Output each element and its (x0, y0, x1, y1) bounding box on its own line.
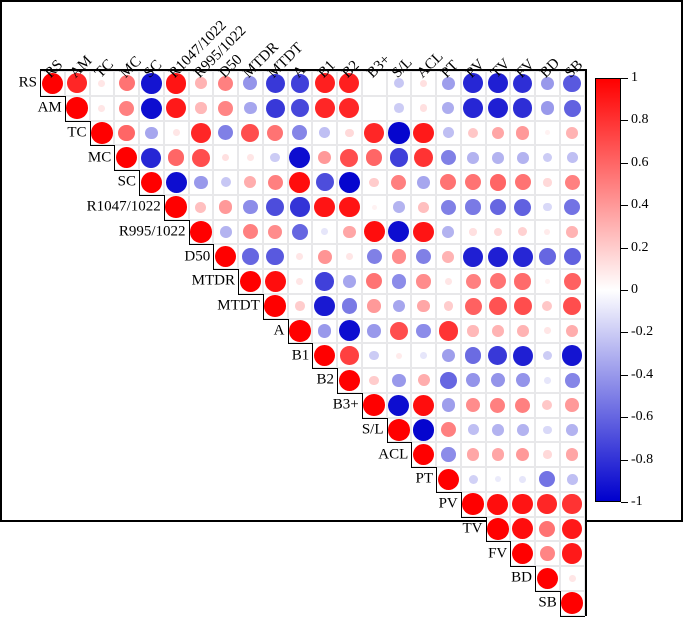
axis-line (213, 244, 214, 269)
correlation-dot (195, 102, 206, 113)
correlation-dot (515, 398, 530, 413)
colorbar-tick-label: 0.8 (631, 112, 649, 128)
correlation-matrix-plot: RSAMTCMCSCR1047/1022R995/1022D50MTDRMTDT… (2, 2, 683, 524)
axis-line (40, 71, 41, 96)
correlation-dot (566, 424, 578, 436)
correlation-dot (467, 152, 479, 164)
colorbar-tick (621, 290, 628, 291)
correlation-dot (567, 152, 578, 163)
axis-line (139, 170, 140, 195)
axis-line (238, 294, 263, 295)
colorbar-tick-label: 1 (631, 70, 638, 86)
correlation-dot (315, 272, 334, 291)
correlation-dot (416, 274, 430, 288)
correlation-dot (443, 127, 454, 138)
colorbar-tick-label: -0.4 (631, 367, 653, 383)
correlation-dot (564, 248, 581, 265)
correlation-dot (564, 273, 581, 290)
axis-line (114, 145, 115, 170)
correlation-dot (119, 101, 134, 116)
correlation-dot (266, 248, 283, 265)
correlation-dot (543, 426, 551, 434)
correlation-dot (517, 152, 529, 164)
correlation-dot (487, 518, 509, 540)
axis-line (436, 492, 461, 493)
correlation-dot (515, 174, 531, 190)
correlation-dot (390, 148, 409, 167)
correlation-dot (463, 247, 483, 267)
correlation-dot (242, 248, 259, 265)
correlation-dot (513, 346, 533, 366)
correlation-dot (392, 374, 406, 388)
correlation-dot (569, 575, 576, 582)
correlation-dot (514, 273, 530, 289)
correlation-dot (340, 149, 358, 167)
correlation-dot (118, 125, 135, 142)
correlation-dot (441, 447, 455, 461)
axis-line (114, 170, 139, 171)
axis-line (238, 269, 239, 294)
row-label-a: A (2, 322, 285, 339)
row-label-mtdr: MTDR (2, 273, 235, 290)
correlation-dot (244, 102, 257, 115)
correlation-dot (394, 103, 404, 113)
correlation-dot (91, 122, 113, 144)
correlation-dot (444, 301, 454, 311)
colorbar-tick (621, 120, 628, 121)
correlation-dot (441, 200, 456, 215)
correlation-dot (339, 197, 360, 218)
correlation-dot (295, 301, 305, 311)
correlation-dot (267, 125, 283, 141)
axis-line (337, 393, 362, 394)
correlation-dot (567, 474, 578, 485)
axis-line (164, 195, 165, 220)
axis-line (486, 517, 487, 542)
correlation-dot (165, 196, 187, 218)
axis-line (436, 467, 437, 492)
correlation-dot (562, 543, 582, 563)
axis-line (535, 591, 560, 592)
axis-line (411, 467, 436, 468)
correlation-dot (543, 203, 551, 211)
correlation-dot (218, 101, 233, 116)
correlation-dot (492, 325, 504, 337)
correlation-dot (469, 228, 476, 235)
correlation-dot (417, 176, 430, 189)
axis-line (585, 69, 587, 616)
axis-line (510, 566, 535, 567)
correlation-dot (492, 448, 505, 461)
correlation-dot (442, 226, 454, 238)
correlation-dot (141, 172, 163, 194)
axis-line (288, 343, 313, 344)
correlation-dot (540, 546, 555, 561)
correlation-dot (364, 221, 385, 242)
correlation-dot (492, 152, 504, 164)
colorbar-tick (621, 205, 628, 206)
row-label-sc: SC (2, 174, 136, 191)
row-label-acl: ACL (2, 446, 408, 463)
correlation-dot (566, 226, 578, 238)
correlation-dot (539, 248, 556, 265)
correlation-dot (420, 352, 427, 359)
axis-line (461, 517, 486, 518)
row-label-pv: PV (2, 496, 458, 513)
axis-line (486, 541, 511, 542)
correlation-dot (513, 98, 533, 118)
correlation-dot (541, 101, 555, 115)
correlation-dot (544, 327, 551, 334)
correlation-dot (369, 178, 379, 188)
correlation-dot (192, 149, 210, 167)
correlation-dot (517, 424, 529, 436)
row-label-pt: PT (2, 471, 433, 488)
correlation-dot (561, 592, 583, 614)
correlation-dot (487, 494, 508, 515)
correlation-dot (367, 249, 382, 264)
correlation-dot (490, 174, 507, 191)
row-label-mtdt: MTDT (2, 298, 260, 315)
correlation-dot (413, 419, 434, 440)
axis-line (189, 220, 190, 245)
correlation-dot (418, 202, 429, 213)
axis-line (189, 244, 214, 245)
correlation-dot (488, 98, 508, 118)
axis-line (362, 393, 363, 418)
correlation-dot (363, 394, 385, 416)
axis-line (535, 566, 536, 591)
correlation-dot (513, 247, 533, 267)
correlation-dot (315, 98, 335, 118)
correlation-dot (346, 253, 353, 260)
colorbar-tick (621, 502, 628, 503)
row-label-s-l: S/L (2, 421, 384, 438)
colorbar-tick (621, 248, 628, 249)
row-label-tc: TC (2, 124, 87, 141)
axis-line (387, 418, 388, 443)
correlation-dot (318, 250, 332, 264)
correlation-dot (492, 424, 504, 436)
correlation-dot (565, 398, 579, 412)
correlation-dot (340, 346, 359, 365)
colorbar-tick-label: 0 (631, 282, 638, 298)
correlation-dot (66, 97, 88, 119)
axis-line (65, 121, 90, 122)
correlation-dot (369, 376, 379, 386)
correlation-colorbar (595, 78, 621, 502)
correlation-dot (565, 175, 580, 190)
correlation-dot (191, 123, 211, 143)
correlation-dot (543, 178, 551, 186)
correlation-dot (266, 99, 285, 118)
correlation-dot (318, 324, 332, 338)
axis-line (312, 343, 313, 368)
correlation-dot (364, 123, 384, 143)
correlation-dot (388, 395, 409, 416)
correlation-dot (392, 249, 406, 263)
correlation-dot (416, 324, 430, 338)
axis-line (90, 121, 91, 146)
axis-line (411, 442, 412, 467)
correlation-dot (564, 100, 581, 117)
correlation-dot (488, 247, 508, 267)
correlation-dot (566, 127, 578, 139)
axis-line (263, 294, 264, 319)
correlation-dot (243, 200, 257, 214)
row-label-b1: B1 (2, 347, 309, 364)
row-label-rs: RS (2, 75, 37, 92)
correlation-dot (290, 197, 309, 216)
correlation-dot (468, 128, 478, 138)
row-label-fv: FV (2, 545, 507, 562)
correlation-dot (190, 221, 212, 243)
correlation-dot (465, 298, 482, 315)
correlation-dot (413, 123, 433, 143)
correlation-dot (519, 476, 526, 483)
correlation-dot (314, 296, 334, 316)
correlation-dot (393, 201, 405, 213)
correlation-dot (413, 222, 434, 243)
correlation-dot (240, 271, 262, 293)
correlation-dot (388, 419, 410, 441)
correlation-dot (442, 398, 455, 411)
correlation-dot (396, 353, 402, 359)
correlation-dot (141, 98, 162, 119)
colorbar-tick-label: 0.4 (631, 197, 649, 213)
correlation-dot (316, 173, 334, 191)
row-label-r1047-1022: R1047/1022 (2, 199, 161, 216)
axis-line (387, 442, 412, 443)
correlation-dot (141, 148, 161, 168)
axis-line (560, 591, 561, 616)
row-label-tv: TV (2, 520, 483, 537)
axis-line (510, 541, 511, 566)
colorbar-tick (621, 332, 628, 333)
row-label-d50: D50 (2, 248, 210, 265)
axis-line (40, 96, 65, 97)
correlation-dot (514, 199, 531, 216)
correlation-dot (442, 251, 454, 263)
correlation-dot (514, 297, 532, 315)
correlation-dot (194, 176, 208, 190)
correlation-dot (440, 372, 457, 389)
correlation-dot (166, 172, 187, 193)
correlation-dot (544, 377, 551, 384)
row-label-sb: SB (2, 595, 557, 612)
axis-line (461, 492, 462, 517)
colorbar-tick-label: -0.2 (631, 324, 653, 340)
correlation-dot (516, 373, 530, 387)
axis-line (213, 269, 238, 270)
correlation-dot (537, 568, 559, 590)
correlation-dot (372, 205, 377, 210)
correlation-dot (465, 347, 481, 363)
colorbar-tick (621, 78, 628, 79)
correlation-dot (516, 126, 530, 140)
correlation-dot (494, 228, 502, 236)
colorbar-tick-label: 0.6 (631, 155, 649, 171)
axis-line (164, 220, 189, 221)
correlation-dot (195, 202, 206, 213)
colorbar-tick-label: 0.2 (631, 240, 649, 256)
colorbar-tick (621, 460, 628, 461)
correlation-dot (543, 450, 551, 458)
correlation-dot (489, 297, 507, 315)
correlation-dot (367, 299, 381, 313)
colorbar-tick-label: -0.8 (631, 452, 653, 468)
correlation-dot (439, 321, 458, 340)
axis-line (65, 96, 66, 121)
correlation-dot (390, 322, 408, 340)
correlation-dot (367, 324, 381, 338)
correlation-dot (545, 279, 550, 284)
correlation-dot (264, 295, 286, 317)
row-label-mc: MC (2, 149, 111, 166)
correlation-dot (343, 226, 356, 239)
correlation-dot (517, 325, 529, 337)
correlation-dot (342, 298, 358, 314)
figure-frame: RSAMTCMCSCR1047/1022R995/1022D50MTDRMTDT… (0, 0, 683, 522)
axis-line (337, 368, 338, 393)
correlation-dot (466, 274, 481, 289)
axis-line (139, 195, 164, 196)
colorbar-tick-label: -1 (631, 494, 643, 510)
row-label-am: AM (2, 100, 62, 117)
colorbar-tick-label: -0.6 (631, 409, 653, 425)
correlation-dot (413, 395, 434, 416)
row-label-b3-: B3+ (2, 397, 359, 414)
correlation-dot (268, 175, 283, 190)
correlation-dot (392, 274, 406, 288)
correlation-dot (145, 127, 158, 140)
correlation-dot (220, 226, 232, 238)
correlation-dot (562, 494, 581, 513)
correlation-dot (468, 424, 479, 435)
correlation-dot (247, 154, 254, 161)
row-label-bd: BD (2, 570, 532, 587)
correlation-dot (467, 325, 478, 336)
correlation-dot (463, 98, 483, 118)
axis-line (263, 319, 288, 320)
correlation-dot (296, 278, 303, 285)
correlation-dot (388, 122, 409, 143)
row-label-b2: B2 (2, 372, 334, 389)
axis-line (362, 418, 387, 419)
colorbar-tick (621, 163, 628, 164)
correlation-dot (339, 370, 361, 392)
correlation-dot (265, 271, 286, 292)
correlation-dot (343, 275, 356, 288)
correlation-dot (445, 278, 452, 285)
correlation-dot (345, 129, 353, 137)
axis-line (288, 319, 289, 344)
correlation-dot (98, 105, 105, 112)
axis-line (90, 145, 115, 146)
correlation-dot (462, 493, 484, 515)
correlation-dot (565, 373, 580, 388)
correlation-dot (469, 475, 478, 484)
correlation-dot (465, 199, 481, 215)
axis-line (312, 368, 337, 369)
row-label-r995-1022: R995/1022 (2, 223, 186, 240)
colorbar-tick (621, 375, 628, 376)
correlation-dot (173, 129, 180, 136)
correlation-dot (339, 172, 360, 193)
correlation-dot (289, 320, 311, 342)
correlation-dot (438, 469, 460, 491)
colorbar-tick (621, 417, 628, 418)
